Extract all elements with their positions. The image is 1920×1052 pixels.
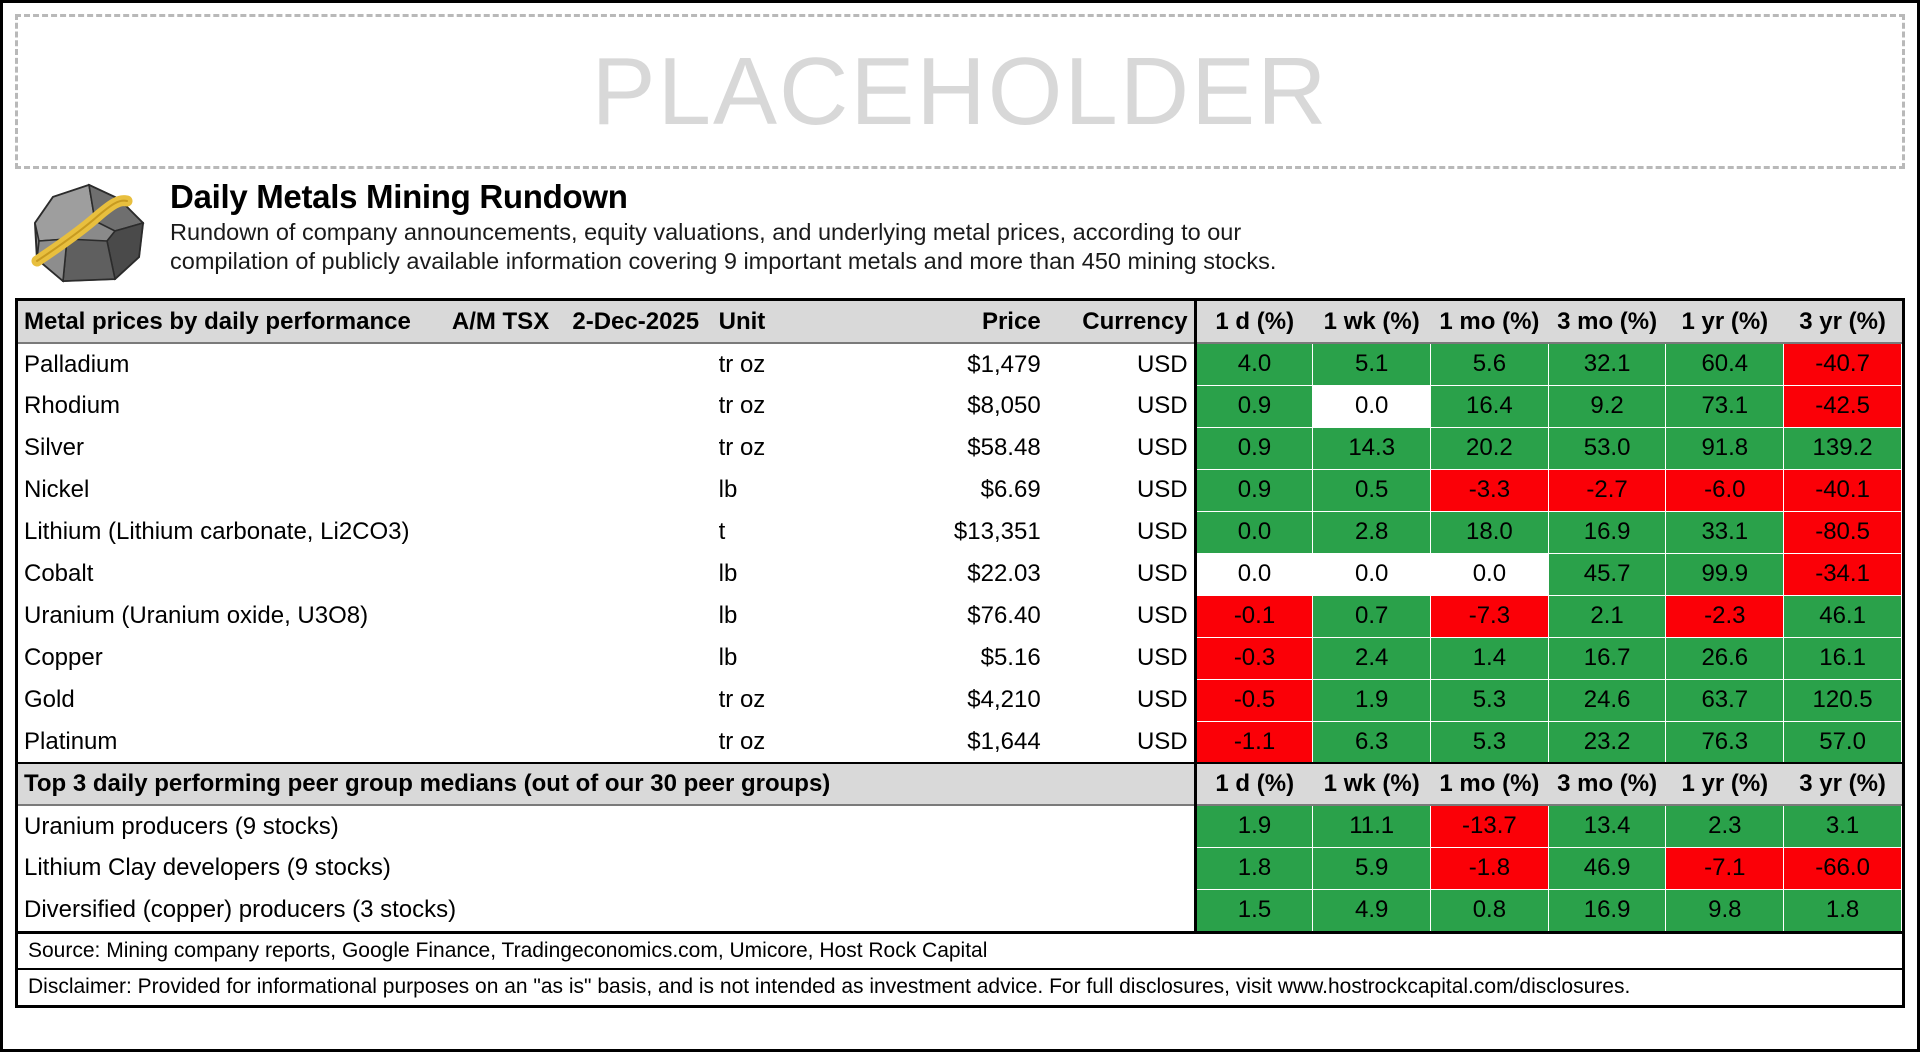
rock-with-gold-vein-icon: [23, 179, 153, 287]
footer-source: Source: Mining company reports, Google F…: [18, 934, 1902, 970]
metal-pct-3: 45.7: [1548, 553, 1666, 595]
table-body: Metal prices by daily performance A/M TS…: [18, 301, 1902, 931]
peer-header-pct-3yr: 3 yr (%): [1784, 763, 1902, 805]
metal-price: $6.69: [850, 469, 1046, 511]
metal-unit: lb: [713, 469, 851, 511]
peer-pct-5: -66.0: [1784, 847, 1902, 889]
metal-price: $76.40: [850, 595, 1046, 637]
metal-pct-2: 18.0: [1431, 511, 1549, 553]
metal-pct-0: -0.3: [1195, 637, 1313, 679]
metal-pct-2: -7.3: [1431, 595, 1549, 637]
peer-pct-4: -7.1: [1666, 847, 1784, 889]
metal-pct-1: 0.0: [1313, 385, 1431, 427]
metal-am-tsx: [442, 553, 559, 595]
peer-header-pct-1wk: 1 wk (%): [1313, 763, 1431, 805]
metal-pct-0: 0.0: [1195, 511, 1313, 553]
metal-pct-0: 0.9: [1195, 385, 1313, 427]
metal-price: $22.03: [850, 553, 1046, 595]
metal-name: Cobalt: [18, 553, 442, 595]
table-row: Copperlb$5.16USD-0.32.41.416.726.616.1: [18, 637, 1902, 679]
metal-price: $1,479: [850, 343, 1046, 385]
metal-name: Palladium: [18, 343, 442, 385]
metals-header-currency: Currency: [1047, 301, 1195, 343]
metal-name: Uranium (Uranium oxide, U3O8): [18, 595, 442, 637]
peer-pct-0: 1.8: [1195, 847, 1313, 889]
metal-pct-2: 0.0: [1431, 553, 1549, 595]
metal-price: $4,210: [850, 679, 1046, 721]
metal-pct-3: 24.6: [1548, 679, 1666, 721]
placeholder-banner: PLACEHOLDER: [15, 14, 1905, 169]
metal-pct-4: 63.7: [1666, 679, 1784, 721]
metal-pct-4: 76.3: [1666, 721, 1784, 763]
peer-pct-1: 11.1: [1313, 805, 1431, 847]
metal-pct-4: 73.1: [1666, 385, 1784, 427]
metal-pct-5: 139.2: [1784, 427, 1902, 469]
peer-pct-2: -13.7: [1431, 805, 1549, 847]
metal-date: [559, 511, 713, 553]
table-row: Nickellb$6.69USD0.90.5-3.3-2.7-6.0-40.1: [18, 469, 1902, 511]
metal-pct-4: 26.6: [1666, 637, 1784, 679]
metal-am-tsx: [442, 721, 559, 763]
metal-am-tsx: [442, 427, 559, 469]
table-row: Palladiumtr oz$1,479USD4.05.15.632.160.4…: [18, 343, 1902, 385]
metal-pct-5: -34.1: [1784, 553, 1902, 595]
metals-header-unit: Unit: [713, 301, 851, 343]
metal-name: Lithium (Lithium carbonate, Li2CO3): [18, 511, 442, 553]
metal-unit: tr oz: [713, 427, 851, 469]
peer-pct-0: 1.5: [1195, 889, 1313, 931]
title-block: Daily Metals Mining Rundown Rundown of c…: [15, 177, 1905, 292]
table-row: Goldtr oz$4,210USD-0.51.95.324.663.7120.…: [18, 679, 1902, 721]
metal-pct-4: 99.9: [1666, 553, 1784, 595]
table-row: Rhodiumtr oz$8,050USD0.90.016.49.273.1-4…: [18, 385, 1902, 427]
metal-unit: lb: [713, 553, 851, 595]
metals-table-header-row: Metal prices by daily performance A/M TS…: [18, 301, 1902, 343]
metal-pct-2: 5.6: [1431, 343, 1549, 385]
metals-header-date: 2-Dec-2025: [559, 301, 713, 343]
report-page: PLACEHOLDER Daily Me: [0, 0, 1920, 1052]
metal-pct-3: -2.7: [1548, 469, 1666, 511]
metal-pct-0: 4.0: [1195, 343, 1313, 385]
metals-and-peers-table: Metal prices by daily performance A/M TS…: [18, 301, 1902, 931]
metal-pct-1: 6.3: [1313, 721, 1431, 763]
peer-pct-2: 0.8: [1431, 889, 1549, 931]
metal-date: [559, 469, 713, 511]
metal-am-tsx: [442, 637, 559, 679]
metal-currency: USD: [1047, 469, 1195, 511]
metal-date: [559, 553, 713, 595]
peer-pct-3: 46.9: [1548, 847, 1666, 889]
metal-price: $8,050: [850, 385, 1046, 427]
table-row: Lithium Clay developers (9 stocks)1.85.9…: [18, 847, 1902, 889]
metal-pct-3: 16.9: [1548, 511, 1666, 553]
peer-pct-3: 13.4: [1548, 805, 1666, 847]
peer-header-pct-1yr: 1 yr (%): [1666, 763, 1784, 805]
peer-header-pct-3mo: 3 mo (%): [1548, 763, 1666, 805]
metals-header-pct-3yr: 3 yr (%): [1784, 301, 1902, 343]
metal-unit: t: [713, 511, 851, 553]
metal-pct-3: 16.7: [1548, 637, 1666, 679]
metal-unit: lb: [713, 637, 851, 679]
metals-header-pct-3mo: 3 mo (%): [1548, 301, 1666, 343]
metal-pct-1: 0.0: [1313, 553, 1431, 595]
peer-pct-5: 3.1: [1784, 805, 1902, 847]
metals-header-pct-1wk: 1 wk (%): [1313, 301, 1431, 343]
metal-pct-4: -2.3: [1666, 595, 1784, 637]
metal-date: [559, 637, 713, 679]
metal-price: $5.16: [850, 637, 1046, 679]
metal-am-tsx: [442, 511, 559, 553]
metal-date: [559, 679, 713, 721]
page-title: Daily Metals Mining Rundown: [170, 179, 1276, 216]
metal-price: $13,351: [850, 511, 1046, 553]
metal-date: [559, 343, 713, 385]
metal-pct-1: 14.3: [1313, 427, 1431, 469]
metal-pct-3: 32.1: [1548, 343, 1666, 385]
peer-header-pct-1mo: 1 mo (%): [1431, 763, 1549, 805]
peer-header-pct-1d: 1 d (%): [1195, 763, 1313, 805]
metal-pct-2: -3.3: [1431, 469, 1549, 511]
metal-price: $1,644: [850, 721, 1046, 763]
metal-pct-4: -6.0: [1666, 469, 1784, 511]
metal-name: Copper: [18, 637, 442, 679]
footer: Source: Mining company reports, Google F…: [15, 934, 1905, 1008]
metal-currency: USD: [1047, 427, 1195, 469]
metal-am-tsx: [442, 595, 559, 637]
metals-header-pct-1yr: 1 yr (%): [1666, 301, 1784, 343]
metal-pct-0: 0.0: [1195, 553, 1313, 595]
metal-currency: USD: [1047, 637, 1195, 679]
metal-pct-4: 33.1: [1666, 511, 1784, 553]
metal-pct-5: 120.5: [1784, 679, 1902, 721]
table-row: Diversified (copper) producers (3 stocks…: [18, 889, 1902, 931]
peer-group-name: Diversified (copper) producers (3 stocks…: [18, 889, 1195, 931]
metal-date: [559, 385, 713, 427]
metals-header-pct-1mo: 1 mo (%): [1431, 301, 1549, 343]
metal-pct-2: 5.3: [1431, 679, 1549, 721]
metal-name: Gold: [18, 679, 442, 721]
metal-pct-5: -80.5: [1784, 511, 1902, 553]
metal-currency: USD: [1047, 385, 1195, 427]
metal-date: [559, 721, 713, 763]
page-subtitle-line2: compilation of publicly available inform…: [170, 247, 1276, 276]
peer-pct-0: 1.9: [1195, 805, 1313, 847]
metal-pct-0: 0.9: [1195, 427, 1313, 469]
metal-unit: lb: [713, 595, 851, 637]
metal-pct-4: 91.8: [1666, 427, 1784, 469]
metal-pct-4: 60.4: [1666, 343, 1784, 385]
metal-unit: tr oz: [713, 385, 851, 427]
data-table-container: Metal prices by daily performance A/M TS…: [15, 298, 1905, 934]
metals-header-pct-1d: 1 d (%): [1195, 301, 1313, 343]
table-row: Uranium (Uranium oxide, U3O8)lb$76.40USD…: [18, 595, 1902, 637]
metal-pct-5: -40.1: [1784, 469, 1902, 511]
title-text-wrap: Daily Metals Mining Rundown Rundown of c…: [160, 177, 1276, 275]
metal-pct-0: -1.1: [1195, 721, 1313, 763]
peer-pct-4: 2.3: [1666, 805, 1784, 847]
metal-pct-5: 46.1: [1784, 595, 1902, 637]
metal-am-tsx: [442, 469, 559, 511]
peer-pct-2: -1.8: [1431, 847, 1549, 889]
metal-pct-2: 20.2: [1431, 427, 1549, 469]
metal-pct-2: 1.4: [1431, 637, 1549, 679]
metal-currency: USD: [1047, 343, 1195, 385]
peer-group-name: Uranium producers (9 stocks): [18, 805, 1195, 847]
metals-header-am-tsx: A/M TSX: [442, 301, 559, 343]
metal-pct-1: 5.1: [1313, 343, 1431, 385]
peer-pct-1: 5.9: [1313, 847, 1431, 889]
metal-pct-1: 1.9: [1313, 679, 1431, 721]
metal-pct-0: -0.1: [1195, 595, 1313, 637]
metal-currency: USD: [1047, 553, 1195, 595]
metal-pct-5: 57.0: [1784, 721, 1902, 763]
table-row: Uranium producers (9 stocks)1.911.1-13.7…: [18, 805, 1902, 847]
peer-pct-3: 16.9: [1548, 889, 1666, 931]
peer-group-header-row: Top 3 daily performing peer group median…: [18, 763, 1902, 805]
metal-currency: USD: [1047, 511, 1195, 553]
metal-pct-1: 0.5: [1313, 469, 1431, 511]
table-row: Cobaltlb$22.03USD0.00.00.045.799.9-34.1: [18, 553, 1902, 595]
metal-unit: tr oz: [713, 721, 851, 763]
page-subtitle-line1: Rundown of company announcements, equity…: [170, 218, 1276, 247]
metal-price: $58.48: [850, 427, 1046, 469]
metal-name: Nickel: [18, 469, 442, 511]
metal-date: [559, 595, 713, 637]
metal-pct-0: -0.5: [1195, 679, 1313, 721]
peer-pct-1: 4.9: [1313, 889, 1431, 931]
table-row: Silvertr oz$58.48USD0.914.320.253.091.81…: [18, 427, 1902, 469]
logo: [15, 177, 160, 289]
metal-name: Silver: [18, 427, 442, 469]
metal-pct-5: -40.7: [1784, 343, 1902, 385]
placeholder-label: PLACEHOLDER: [592, 44, 1329, 140]
peer-header-title: Top 3 daily performing peer group median…: [18, 763, 1195, 805]
metal-currency: USD: [1047, 721, 1195, 763]
metal-pct-1: 2.4: [1313, 637, 1431, 679]
metal-pct-2: 16.4: [1431, 385, 1549, 427]
metal-pct-2: 5.3: [1431, 721, 1549, 763]
peer-pct-5: 1.8: [1784, 889, 1902, 931]
metal-pct-1: 0.7: [1313, 595, 1431, 637]
metal-currency: USD: [1047, 679, 1195, 721]
metal-unit: tr oz: [713, 679, 851, 721]
metal-am-tsx: [442, 385, 559, 427]
metal-pct-3: 2.1: [1548, 595, 1666, 637]
peer-group-name: Lithium Clay developers (9 stocks): [18, 847, 1195, 889]
metal-name: Rhodium: [18, 385, 442, 427]
metal-currency: USD: [1047, 595, 1195, 637]
metal-date: [559, 427, 713, 469]
metal-am-tsx: [442, 343, 559, 385]
metal-pct-5: -42.5: [1784, 385, 1902, 427]
metal-pct-0: 0.9: [1195, 469, 1313, 511]
metal-pct-3: 9.2: [1548, 385, 1666, 427]
footer-disclaimer: Disclaimer: Provided for informational p…: [18, 970, 1902, 1004]
metal-name: Platinum: [18, 721, 442, 763]
metal-unit: tr oz: [713, 343, 851, 385]
table-row: Platinumtr oz$1,644USD-1.16.35.323.276.3…: [18, 721, 1902, 763]
metal-pct-3: 53.0: [1548, 427, 1666, 469]
metal-pct-5: 16.1: [1784, 637, 1902, 679]
metals-header-title: Metal prices by daily performance: [18, 301, 442, 343]
metal-pct-3: 23.2: [1548, 721, 1666, 763]
metals-header-price: Price: [850, 301, 1046, 343]
metal-pct-1: 2.8: [1313, 511, 1431, 553]
metal-am-tsx: [442, 679, 559, 721]
table-row: Lithium (Lithium carbonate, Li2CO3)t$13,…: [18, 511, 1902, 553]
peer-pct-4: 9.8: [1666, 889, 1784, 931]
